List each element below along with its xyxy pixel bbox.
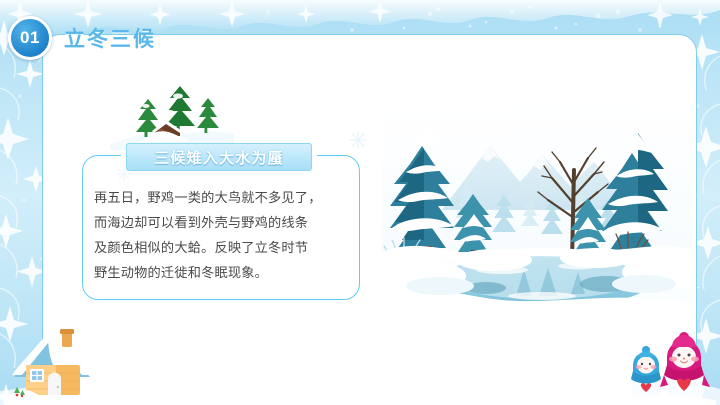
cottage-decoration [4, 313, 126, 405]
body-line: 而海边却可以看到外壳与野鸡的线条 [94, 211, 352, 236]
section-header: 01 立冬三候 [8, 16, 156, 60]
slide-root: 01 立冬三候 [0, 0, 720, 405]
snowman-pink [660, 332, 710, 405]
body-paragraph: 再五日，野鸡一类的大鸟就不多见了， 而海边却可以看到外壳与野鸡的线条 及颜色相似… [94, 186, 352, 286]
page-title: 立冬三候 [64, 23, 156, 53]
body-line: 野生动物的迁徙和冬眠现象。 [94, 261, 352, 286]
snowman-blue [629, 346, 663, 404]
body-line: 再五日，野鸡一类的大鸟就不多见了， [94, 186, 352, 211]
subsection-banner-label: 三候雉入大水为蜃 [154, 147, 284, 168]
winter-forest-illustration [382, 100, 692, 312]
body-line: 及颜色相似的大蛤。反映了立冬时节 [94, 236, 352, 261]
pine-trees-cabin-illustration [110, 84, 234, 150]
snowmen-decoration [620, 313, 716, 405]
subsection-banner: 三候雉入大水为蜃 [126, 143, 312, 171]
section-number-badge: 01 [8, 16, 52, 60]
